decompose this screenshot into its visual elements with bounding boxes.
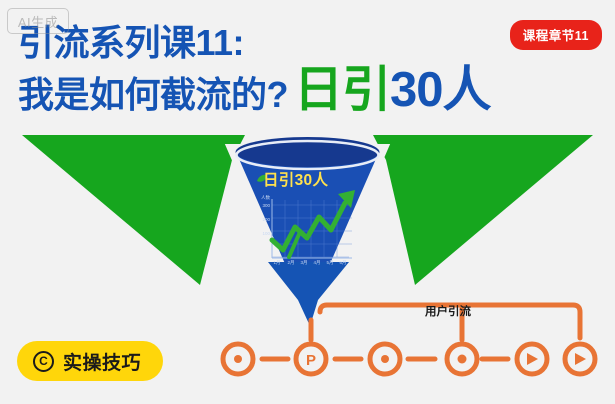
poster-canvas: AI生成 课程章节11 引流系列课11: 我是如何截流的? 日引 30人 [0,0,615,404]
flow-node-4[interactable] [447,344,477,374]
letter-p-glyph: P [306,352,316,369]
kpi-headline: 日引 30人 [294,67,491,114]
dot-circle-center [234,355,242,363]
flow-node-3[interactable] [370,344,400,374]
skill-badge: C 实操技巧 [17,341,163,381]
title-question: 我是如何截流的? [18,76,288,114]
title-line-2: 我是如何截流的? 日引 30人 [18,67,491,114]
play-arrow-glyph [527,353,538,365]
skill-badge-text: 实操技巧 [63,348,141,375]
flow-node-2[interactable]: P [296,344,326,374]
dot-circle-center [458,355,467,364]
flow-node-5[interactable] [517,344,547,374]
title-block: 引流系列课11: 我是如何截流的? 日引 30人 [18,24,491,113]
copyright-icon: C [33,351,54,372]
kpi-blue-text: 30人 [390,67,491,114]
chapter-badge: 课程章节11 [510,20,602,50]
title-line-1: 引流系列课11: [18,24,491,63]
flow-node-1[interactable] [223,344,253,374]
ai-watermark: AI生成 [7,8,69,34]
dot-circle-center [381,355,389,363]
flow-label: 用户引流 [425,303,471,319]
play-arrow-glyph [575,353,586,365]
flow-node-6[interactable] [565,344,595,374]
kpi-green-text: 日引 [294,67,390,114]
